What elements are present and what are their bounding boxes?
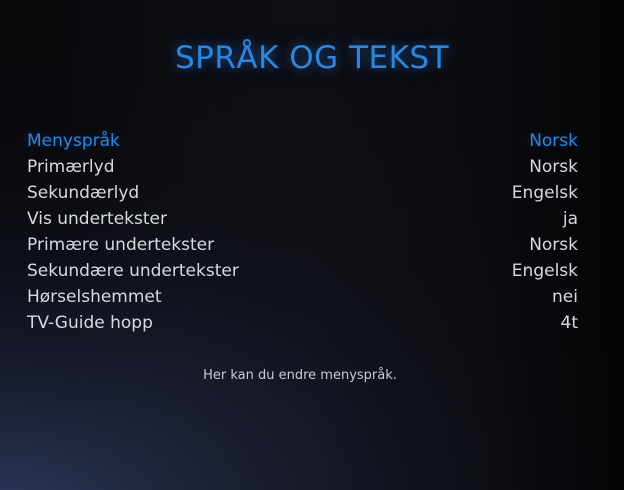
settings-row-label: Vis undertekster [27,206,167,232]
settings-row-label: Sekundære undertekster [27,258,239,284]
settings-row-label: Sekundærlyd [27,180,139,206]
settings-list: MenyspråkNorskPrimærlydNorskSekundærlydE… [27,128,578,336]
settings-row[interactable]: Primære underteksterNorsk [27,232,578,258]
help-text: Her kan du endre menyspråk. [0,368,600,383]
settings-row-value[interactable]: Engelsk [512,258,578,284]
settings-row-value[interactable]: Norsk [529,154,578,180]
settings-row[interactable]: MenyspråkNorsk [27,128,578,154]
settings-row-label: Primærlyd [27,154,114,180]
settings-row-value[interactable]: 4t [561,310,578,336]
settings-row-label: Primære undertekster [27,232,214,258]
settings-row-value[interactable]: ja [563,206,578,232]
settings-row-value[interactable]: Engelsk [512,180,578,206]
settings-row-value[interactable]: Norsk [529,128,578,154]
settings-screen: SPRÅK OG TEKST MenyspråkNorskPrimærlydNo… [0,0,624,490]
settings-row[interactable]: Hørselshemmetnei [27,284,578,310]
settings-row[interactable]: TV-Guide hopp4t [27,310,578,336]
settings-row[interactable]: SekundærlydEngelsk [27,180,578,206]
settings-row-label: Hørselshemmet [27,284,162,310]
settings-row[interactable]: Sekundære underteksterEngelsk [27,258,578,284]
settings-row[interactable]: PrimærlydNorsk [27,154,578,180]
settings-row[interactable]: Vis underteksterja [27,206,578,232]
settings-row-label: Menyspråk [27,128,120,154]
page-title: SPRÅK OG TEKST [0,40,624,76]
settings-row-value[interactable]: nei [552,284,578,310]
settings-row-value[interactable]: Norsk [529,232,578,258]
settings-row-label: TV-Guide hopp [27,310,153,336]
